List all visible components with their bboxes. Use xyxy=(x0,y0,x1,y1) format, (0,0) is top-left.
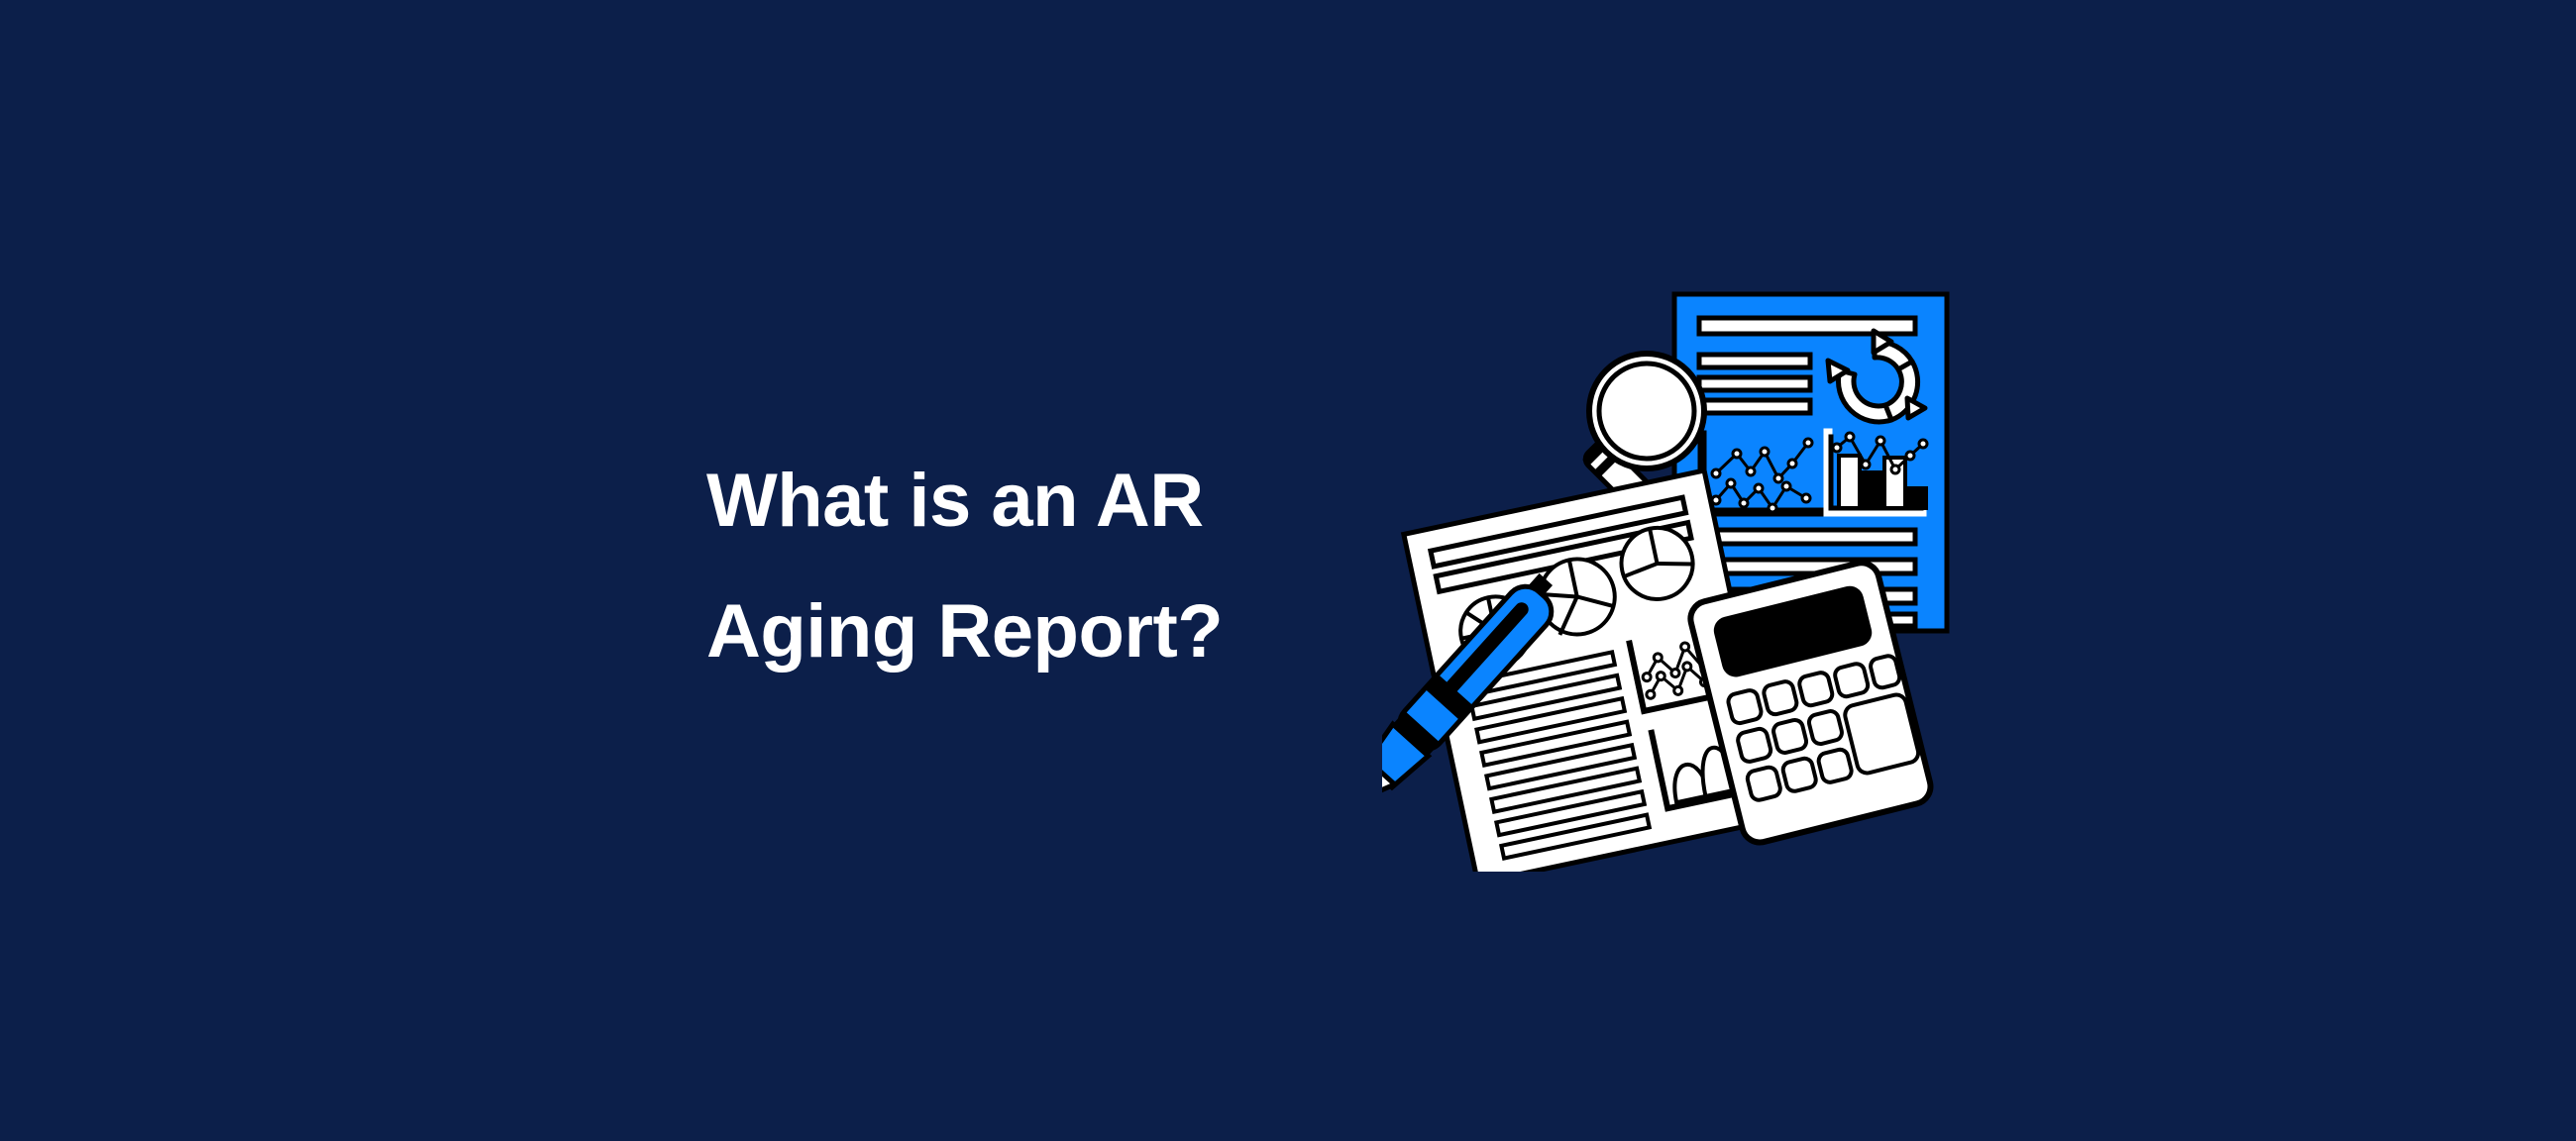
text-bar xyxy=(1699,318,1915,334)
calculator-button[interactable] xyxy=(1807,709,1843,745)
calculator-button[interactable] xyxy=(1869,655,1900,689)
bar xyxy=(1839,456,1860,508)
text-bar xyxy=(1699,560,1915,573)
calculator-button[interactable] xyxy=(1763,679,1798,715)
page-title-line-2: Aging Report? xyxy=(706,567,1459,697)
calculator-button[interactable] xyxy=(1771,718,1807,754)
page-title: What is an AR Aging Report? xyxy=(706,436,1459,697)
bar xyxy=(1862,472,1882,508)
calculator-button[interactable] xyxy=(1781,757,1817,792)
calculator-button[interactable] xyxy=(1833,663,1869,698)
calculator-button[interactable] xyxy=(1727,688,1763,724)
text-bar xyxy=(1699,377,1810,390)
bar xyxy=(1907,488,1926,508)
calculator-button[interactable] xyxy=(1817,748,1853,783)
hero-banner: What is an AR Aging Report? xyxy=(0,0,2576,1141)
financial-report-illustration xyxy=(1382,253,2001,872)
text-bar xyxy=(1699,530,1915,544)
page-title-line-1: What is an AR xyxy=(706,436,1459,567)
calculator-button[interactable] xyxy=(1736,727,1771,763)
calculator-button[interactable] xyxy=(1798,672,1834,707)
calculator-button[interactable] xyxy=(1746,766,1781,801)
text-bar xyxy=(1699,355,1810,367)
illustration-svg xyxy=(1382,253,2001,872)
text-bar xyxy=(1699,400,1810,413)
